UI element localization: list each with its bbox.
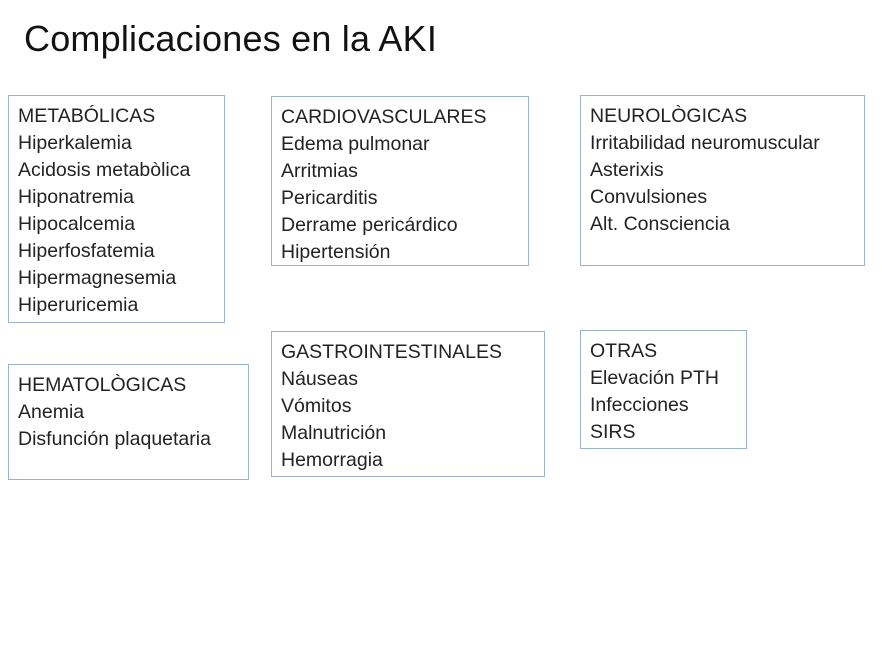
category-content: GASTROINTESTINALES Náuseas Vómitos Malnu… bbox=[272, 332, 544, 474]
category-item: Convulsiones bbox=[590, 184, 864, 211]
category-item: Pericarditis bbox=[281, 185, 528, 212]
category-item: Hipermagnesemia bbox=[18, 265, 224, 292]
category-item: Malnutrición bbox=[281, 420, 544, 447]
category-item: Elevación PTH bbox=[590, 365, 746, 392]
category-box-neurologicas: NEUROLÒGICAS Irritabilidad neuromuscular… bbox=[580, 95, 865, 266]
category-box-otras: OTRAS Elevación PTH Infecciones SIRS bbox=[580, 330, 747, 449]
category-content: CARDIOVASCULARES Edema pulmonar Arritmia… bbox=[272, 97, 528, 266]
category-item: Alt. Consciencia bbox=[590, 211, 864, 238]
category-box-hematologicas: HEMATOLÒGICAS Anemia Disfunción plaqueta… bbox=[8, 364, 249, 480]
category-item: Infecciones bbox=[590, 392, 746, 419]
category-content: OTRAS Elevación PTH Infecciones SIRS bbox=[581, 331, 746, 446]
category-content: NEUROLÒGICAS Irritabilidad neuromuscular… bbox=[581, 96, 864, 238]
category-item: Disfunción plaquetaria bbox=[18, 426, 248, 453]
category-item: Derrame pericárdico bbox=[281, 212, 528, 239]
category-item: Vómitos bbox=[281, 393, 544, 420]
category-item: Hipocalcemia bbox=[18, 211, 224, 238]
category-item: Hiperfosfatemia bbox=[18, 238, 224, 265]
category-item: Hiperkalemia bbox=[18, 130, 224, 157]
category-item: Náuseas bbox=[281, 366, 544, 393]
category-item: Hiperuricemia bbox=[18, 292, 224, 319]
category-item: Edema pulmonar bbox=[281, 131, 528, 158]
category-item: Hipertensión bbox=[281, 239, 528, 266]
category-item: Hiponatremia bbox=[18, 184, 224, 211]
category-box-cardiovasculares: CARDIOVASCULARES Edema pulmonar Arritmia… bbox=[271, 96, 529, 266]
category-content: METABÓLICAS Hiperkalemia Acidosis metabò… bbox=[9, 96, 224, 319]
category-box-metabolicas: METABÓLICAS Hiperkalemia Acidosis metabò… bbox=[8, 95, 225, 323]
category-heading: CARDIOVASCULARES bbox=[281, 104, 528, 131]
category-item: Asterixis bbox=[590, 157, 864, 184]
category-item: SIRS bbox=[590, 419, 746, 446]
category-item: Anemia bbox=[18, 399, 248, 426]
category-heading: METABÓLICAS bbox=[18, 103, 224, 130]
category-item: Hemorragia bbox=[281, 447, 544, 474]
page-title: Complicaciones en la AKI bbox=[24, 17, 437, 61]
category-heading: GASTROINTESTINALES bbox=[281, 339, 544, 366]
category-item: Acidosis metabòlica bbox=[18, 157, 224, 184]
category-box-gastrointestinales: GASTROINTESTINALES Náuseas Vómitos Malnu… bbox=[271, 331, 545, 477]
slide-canvas: Complicaciones en la AKI METABÓLICAS Hip… bbox=[0, 0, 882, 650]
category-content: HEMATOLÒGICAS Anemia Disfunción plaqueta… bbox=[9, 365, 248, 453]
category-item: Irritabilidad neuromuscular bbox=[590, 130, 864, 157]
category-heading: OTRAS bbox=[590, 338, 746, 365]
category-heading: NEUROLÒGICAS bbox=[590, 103, 864, 130]
category-item: Arritmias bbox=[281, 158, 528, 185]
category-heading: HEMATOLÒGICAS bbox=[18, 372, 248, 399]
